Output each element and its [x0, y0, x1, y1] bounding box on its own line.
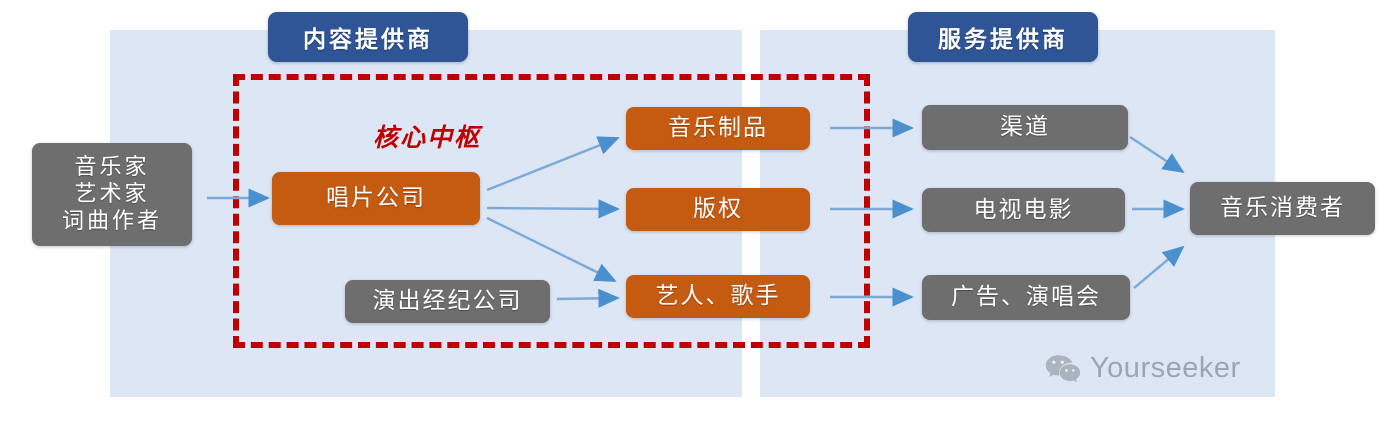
node-channel[interactable]: 渠道 — [922, 105, 1128, 150]
node-copyright[interactable]: 版权 — [626, 188, 810, 231]
node-performance-agency[interactable]: 演出经纪公司 — [345, 280, 550, 323]
node-music-consumers[interactable]: 音乐消费者 — [1190, 182, 1375, 235]
node-record-label-company[interactable]: 唱片公司 — [272, 172, 480, 225]
diagram-canvas: 内容提供商 服务提供商 核心中枢 音乐家 艺术家 词曲作者 唱片公司 演出经纪公… — [0, 0, 1397, 427]
node-advertising-concert[interactable]: 广告、演唱会 — [922, 275, 1130, 320]
node-music-products[interactable]: 音乐制品 — [626, 107, 810, 150]
node-artists-singers[interactable]: 艺人、歌手 — [626, 275, 810, 318]
node-creators[interactable]: 音乐家 艺术家 词曲作者 — [32, 143, 192, 246]
node-creators-line-2: 艺术家 — [62, 181, 162, 208]
badge-content-provider[interactable]: 内容提供商 — [268, 12, 468, 62]
watermark-text: Yourseeker — [1090, 352, 1241, 385]
node-tv-film[interactable]: 电视电影 — [922, 188, 1125, 232]
wechat-icon — [1045, 354, 1081, 384]
core-hub-label: 核心中枢 — [332, 118, 522, 154]
node-creators-line-3: 词曲作者 — [62, 208, 162, 235]
watermark: Yourseeker — [1045, 352, 1241, 385]
badge-service-provider[interactable]: 服务提供商 — [908, 12, 1098, 62]
node-creators-line-1: 音乐家 — [62, 154, 162, 181]
